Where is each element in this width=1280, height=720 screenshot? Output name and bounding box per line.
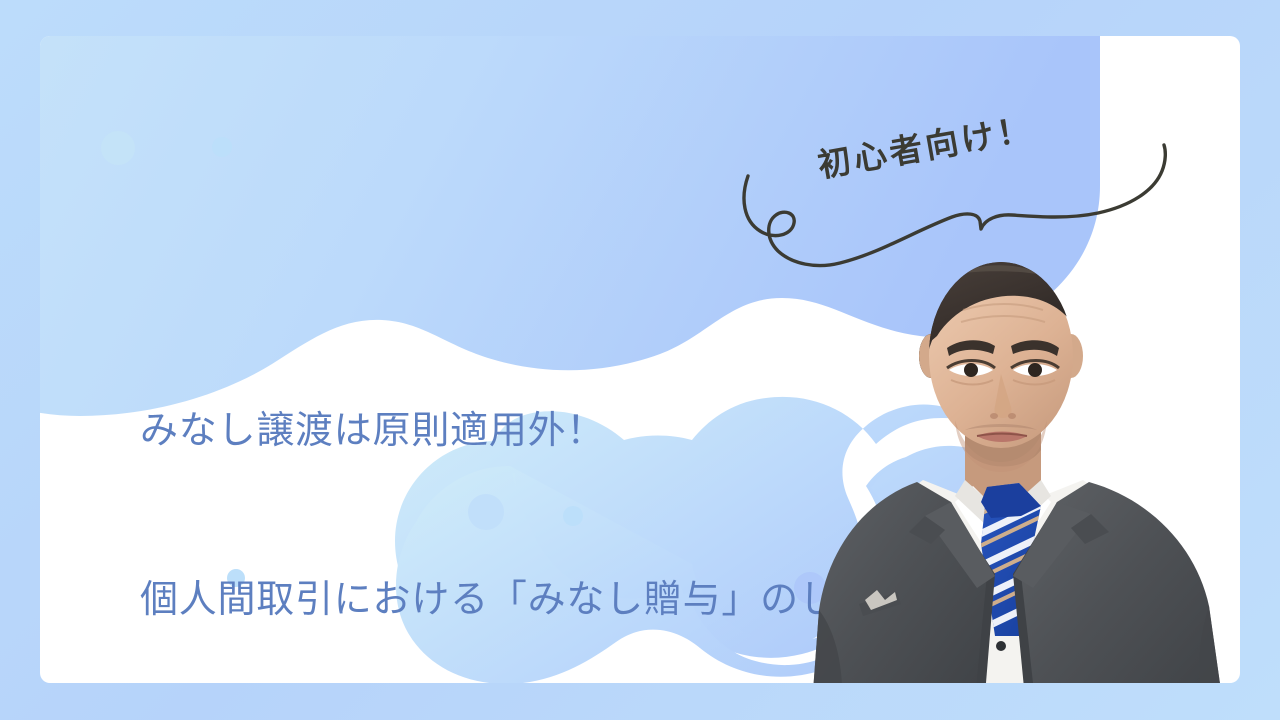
presenter-portrait-image <box>805 244 1240 683</box>
slide-canvas: みなし譲渡は原則適用外！ 個人間取引における「みなし贈与」のしくみ 初心者向け！ <box>0 0 1280 720</box>
page-title: みなし譲渡は原則適用外！ 個人間取引における「みなし贈与」のしくみ <box>140 291 917 683</box>
slide-card: みなし譲渡は原則適用外！ 個人間取引における「みなし贈与」のしくみ 初心者向け！ <box>40 36 1240 683</box>
presenter-photo <box>805 244 1240 683</box>
page-title-line-2: 個人間取引における「みなし贈与」のしくみ <box>140 572 917 628</box>
page-title-line-1: みなし譲渡は原則適用外！ <box>140 403 917 459</box>
